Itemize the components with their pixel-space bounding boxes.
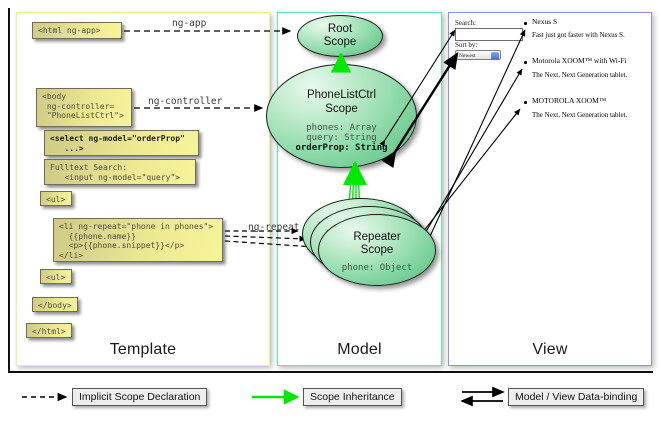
- legend-item-implicit-scope-declaration: Implicit Scope Declaration: [72, 388, 207, 406]
- panel-model-title: Model: [278, 341, 441, 359]
- code-box-ul-close: <ul>: [40, 269, 72, 284]
- scope-root-title-line1: Root: [298, 23, 382, 36]
- phone-snippet: The Next, Next Generation tablet.: [532, 111, 627, 119]
- legend-arrow-double: [462, 392, 503, 401]
- code-box-li-ng-repeat: <li ng-repeat="phone in phones"> {{phone…: [53, 218, 223, 262]
- panel-template: Template: [16, 12, 270, 366]
- list-bullet-icon: [524, 22, 527, 25]
- sort-by-select[interactable]: Newest: [455, 50, 501, 60]
- panel-template-title: Template: [17, 341, 269, 359]
- scope-prop-orderprop: orderProp: String: [267, 143, 416, 154]
- scope-repeater: Repeater Scope phone: Object: [318, 214, 436, 286]
- scope-root-title-line2: Scope: [298, 36, 382, 49]
- phone-snippet: Fast just got faster with Nexus S.: [532, 31, 625, 39]
- outer-frame-left-edge: [8, 8, 10, 371]
- edge-label-ng-controller: ng-controller: [148, 96, 222, 107]
- scope-phonelistctrl: PhoneListCtrl Scope phones: Array query:…: [266, 64, 417, 168]
- scope-prop-phones: phones: Array: [267, 123, 416, 134]
- chevron-down-icon[interactable]: [491, 52, 499, 60]
- diagram-canvas: Template <html ng-app> <body ng-controll…: [0, 0, 661, 425]
- search-input[interactable]: [455, 28, 523, 41]
- code-box-html-close: </html>: [26, 323, 72, 338]
- scope-phonelistctrl-title-line1: PhoneListCtrl: [267, 89, 416, 102]
- code-box-body: <body ng-controller= "PhoneListCtrl">: [36, 88, 132, 127]
- phone-name: Nexus S: [532, 17, 557, 26]
- legend-item-scope-inheritance: Scope Inheritance: [303, 388, 402, 406]
- scope-root: Root Scope: [297, 15, 383, 57]
- code-box-body-close: </body>: [32, 297, 78, 312]
- code-box-html: <html ng-app>: [32, 22, 122, 39]
- code-box-input: Fulltext Search: <input ng-model="query"…: [44, 159, 196, 185]
- panel-view-title: View: [449, 341, 651, 359]
- edge-label-ng-repeat: ng-repeat: [248, 222, 299, 233]
- scope-phonelistctrl-title-line2: Scope: [267, 103, 416, 116]
- scope-prop-query: query: String: [267, 133, 416, 144]
- scope-repeater-title-line2: Scope: [319, 244, 435, 257]
- phone-snippet: The Next, Next Generation tablet.: [532, 71, 627, 79]
- panel-view: View: [448, 12, 652, 366]
- legend-item-model-view-data-binding: Model / View Data-binding: [508, 388, 644, 406]
- phone-name: Motorola XOOM™ with Wi-Fi: [532, 56, 627, 65]
- edge-label-ng-app: ng-app: [172, 18, 206, 29]
- sort-by-label: Sort by:: [455, 41, 477, 49]
- outer-frame-bottom-edge: [8, 371, 653, 373]
- search-label: Search:: [455, 19, 476, 27]
- phone-name: MOTOROLA XOOM™: [532, 96, 606, 105]
- code-box-select: <select ng-model="orderProp" ...>: [44, 130, 199, 156]
- scope-prop-phone: phone: Object: [319, 263, 435, 274]
- code-box-ul-open: <ul>: [40, 191, 72, 206]
- list-bullet-icon: [524, 101, 527, 104]
- sort-by-selected-value: Newest: [459, 53, 476, 59]
- scope-repeater-title-line1: Repeater: [319, 231, 435, 244]
- list-bullet-icon: [524, 61, 527, 64]
